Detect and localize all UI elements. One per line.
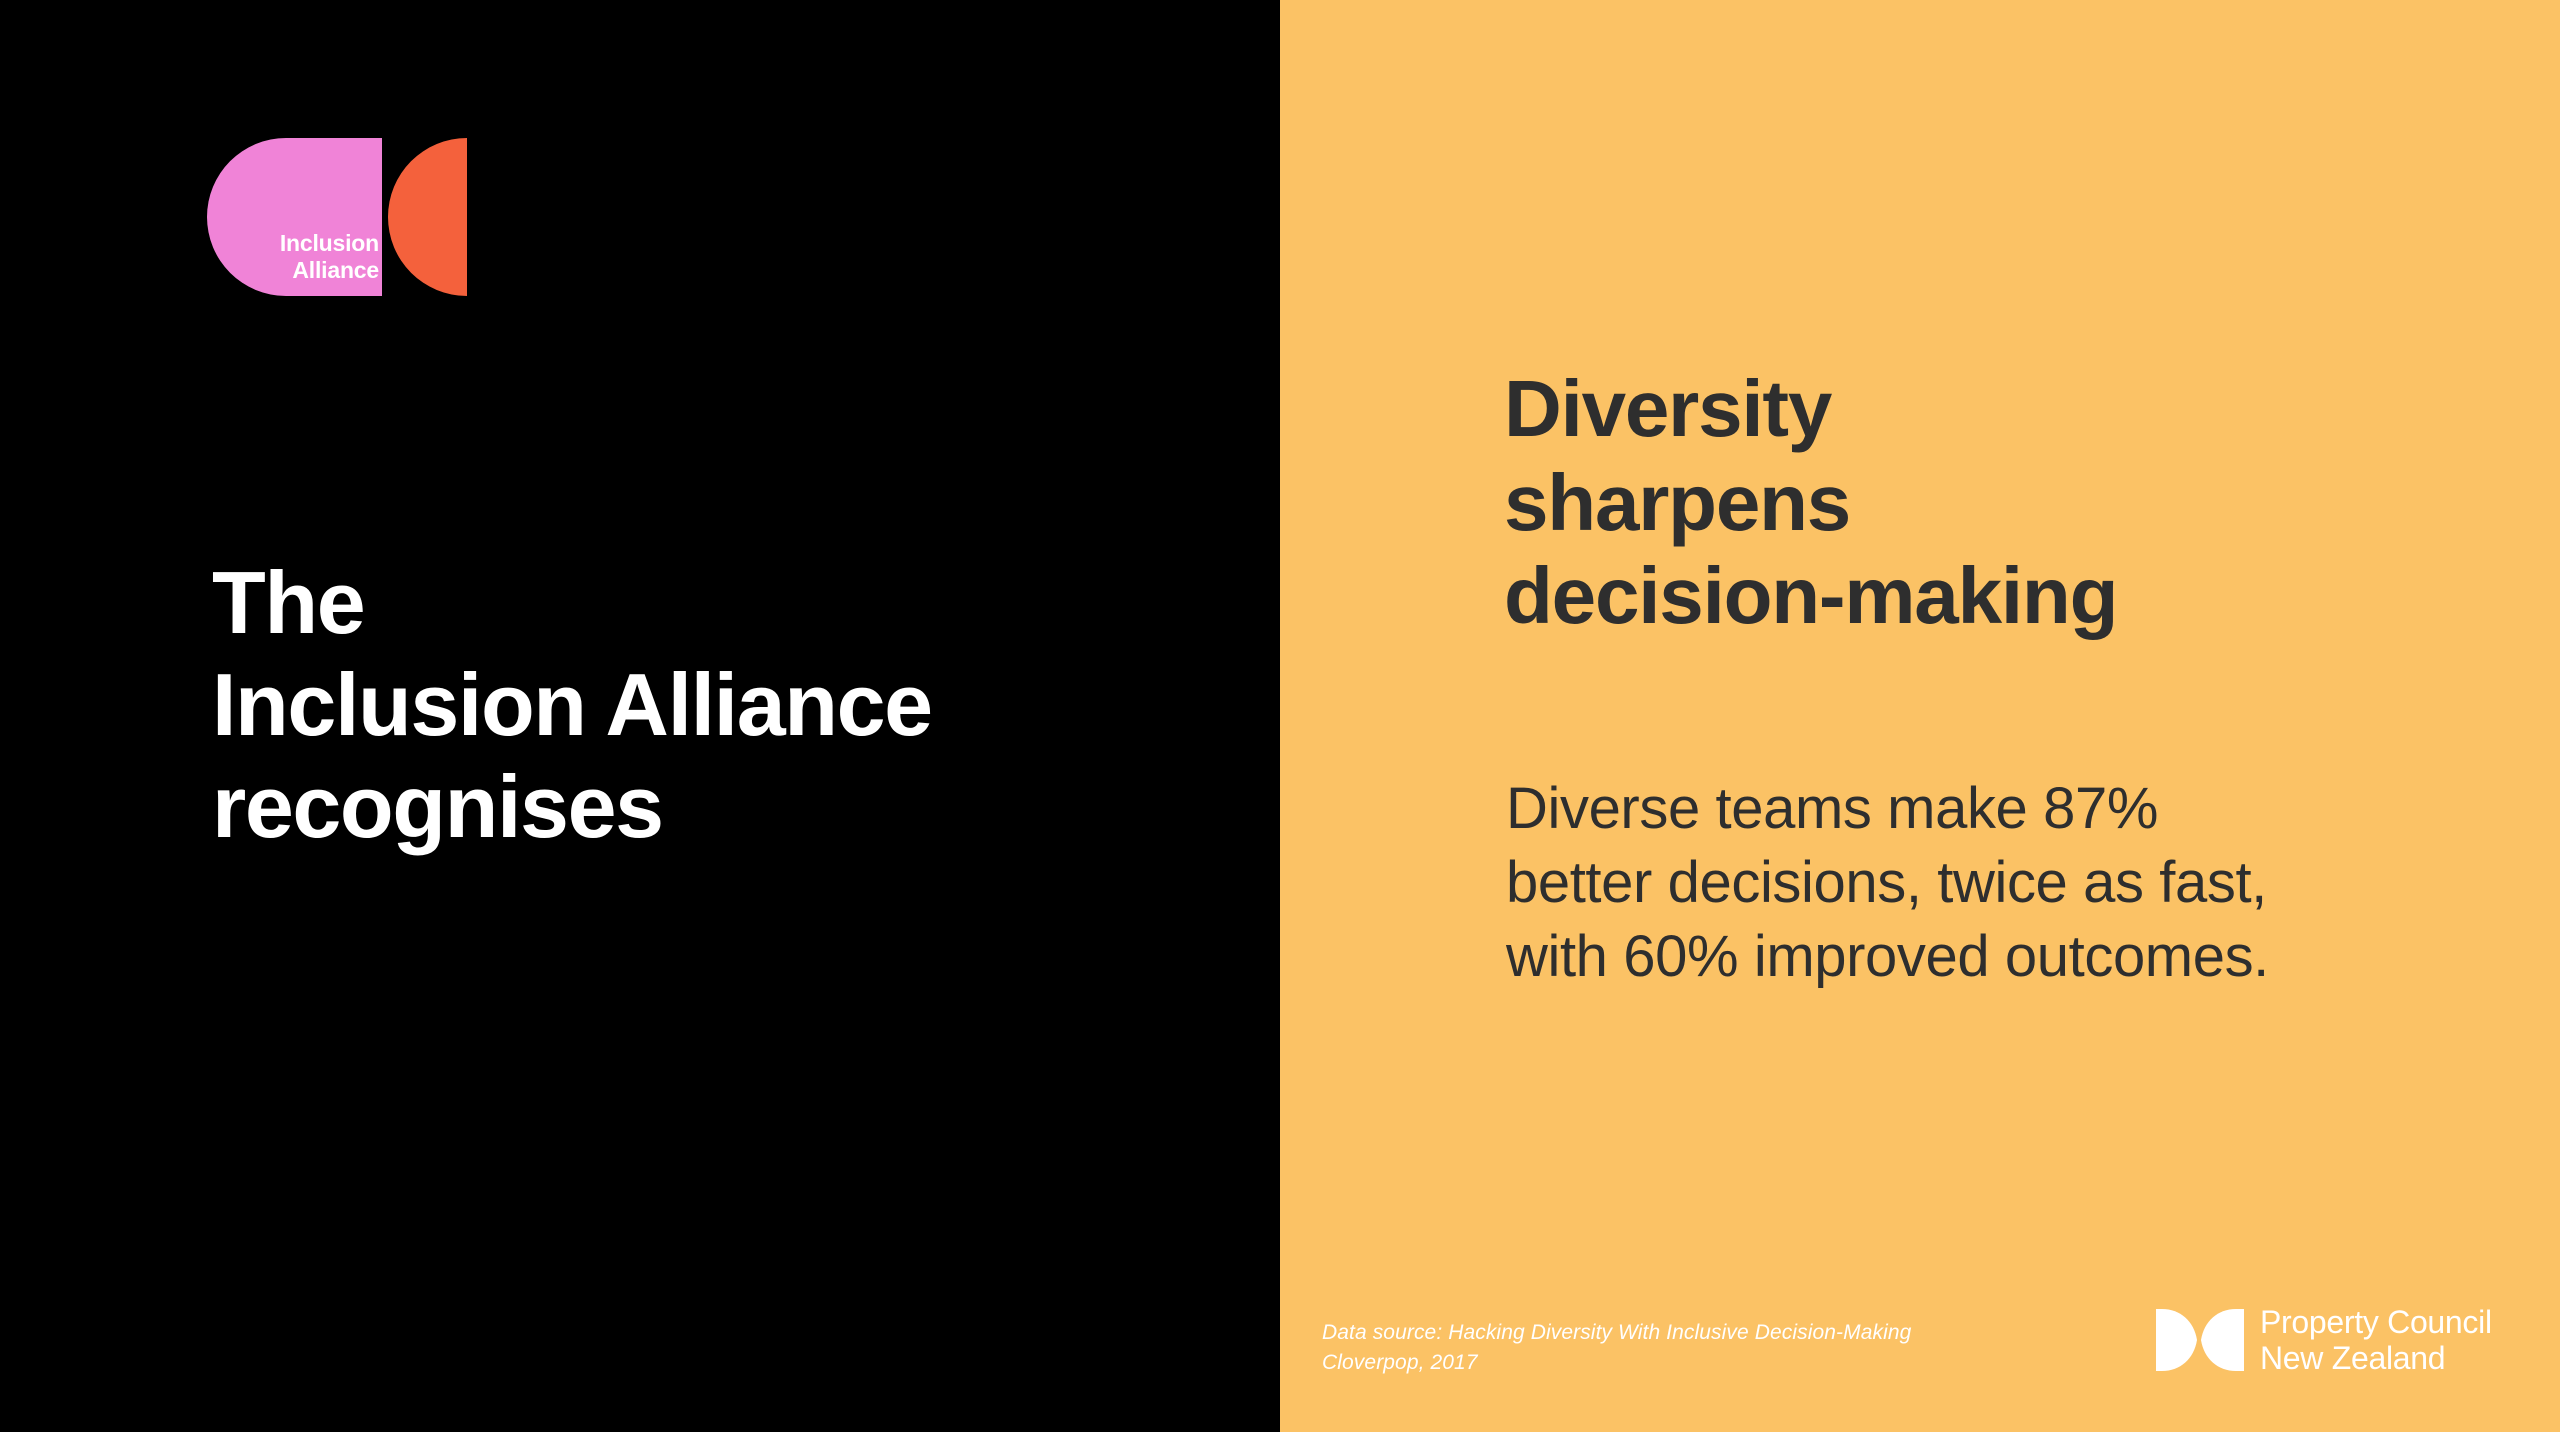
bottom-white-strip xyxy=(0,1432,2560,1440)
right-heading-line-3: decision-making xyxy=(1504,549,2404,643)
property-council-wordmark: Property Council New Zealand xyxy=(2260,1304,2492,1377)
property-council-line-1: Property Council xyxy=(2260,1304,2492,1340)
left-panel: Inclusion Alliance The Inclusion Allianc… xyxy=(0,0,1280,1432)
logo-orange-halfcircle-shape xyxy=(388,138,467,296)
right-heading-line-1: Diversity xyxy=(1504,362,2404,456)
logo-wordmark-line-2: Alliance xyxy=(207,257,379,284)
data-source-note: Data source: Hacking Diversity With Incl… xyxy=(1322,1318,2102,1378)
right-body-line-2: better decisions, twice as fast, xyxy=(1506,846,2456,920)
right-body-line-3: with 60% improved outcomes. xyxy=(1506,920,2456,994)
logo-wordmark-line-1: Inclusion xyxy=(207,230,379,257)
right-heading-line-2: sharpens xyxy=(1504,456,2404,550)
slide-root: Inclusion Alliance The Inclusion Allianc… xyxy=(0,0,2560,1440)
data-source-line-2: Cloverpop, 2017 xyxy=(1322,1348,2102,1378)
property-council-logo: Property Council New Zealand xyxy=(2156,1304,2492,1376)
left-panel-heading: The Inclusion Alliance recognises xyxy=(212,552,1222,858)
left-heading-line-1: The xyxy=(212,552,1222,654)
property-council-mark-icon xyxy=(2156,1309,2244,1371)
right-panel: Diversity sharpens decision-making Diver… xyxy=(1280,0,2560,1432)
right-panel-body-text: Diverse teams make 87% better decisions,… xyxy=(1506,772,2456,995)
left-heading-line-3: recognises xyxy=(212,756,1222,858)
logo-wordmark: Inclusion Alliance xyxy=(207,230,379,284)
property-council-line-2: New Zealand xyxy=(2260,1340,2492,1376)
right-panel-heading: Diversity sharpens decision-making xyxy=(1504,362,2404,643)
inclusion-alliance-logo: Inclusion Alliance xyxy=(207,138,462,296)
data-source-line-1: Data source: Hacking Diversity With Incl… xyxy=(1322,1318,2102,1348)
left-heading-line-2: Inclusion Alliance xyxy=(212,654,1222,756)
right-body-line-1: Diverse teams make 87% xyxy=(1506,772,2456,846)
